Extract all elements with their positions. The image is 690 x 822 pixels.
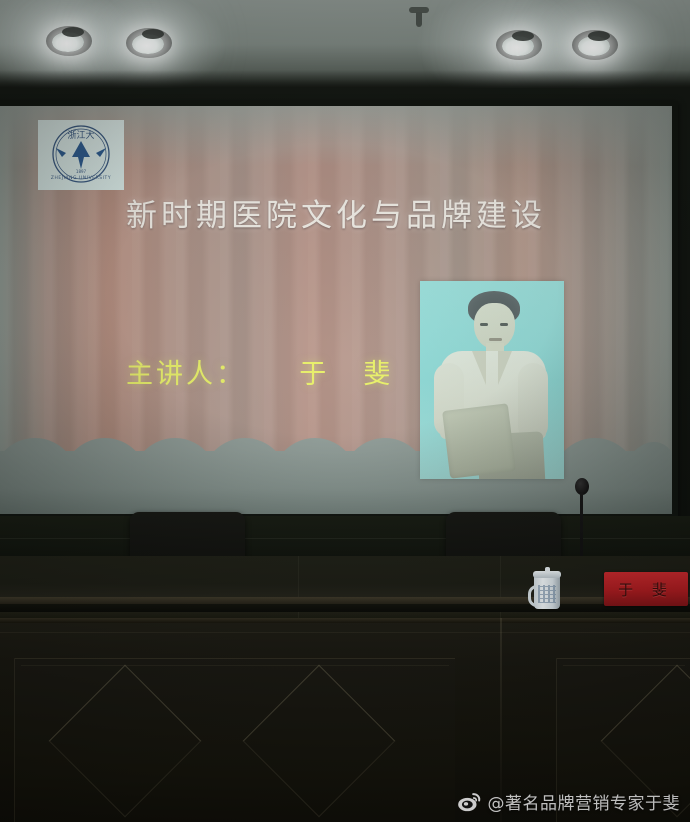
speaker-surname: 于 — [299, 359, 329, 390]
photo-scene: 浙江大 ZHEJIANG UNIVERSITY 1897 新时期医院文化与品牌建… — [0, 0, 690, 822]
svg-text:1897: 1897 — [76, 169, 87, 174]
speaker-label: 主讲人： — [126, 359, 246, 390]
desk-nameplate: 于 斐 — [604, 572, 688, 606]
ceiling-spotlight-3 — [496, 30, 542, 60]
ceiling-spotlight-4 — [572, 30, 618, 60]
projection-screen: 浙江大 ZHEJIANG UNIVERSITY 1897 新时期医院文化与品牌建… — [0, 106, 672, 514]
podium-panel-left — [14, 658, 455, 822]
weibo-handle: @著名品牌营销专家于斐 — [488, 789, 681, 814]
weibo-watermark: @著名品牌营销专家于斐 — [457, 789, 681, 814]
portrait-projection-haze — [420, 281, 564, 479]
ceiling — [0, 0, 690, 92]
speaker-givenname: 斐 — [363, 359, 393, 390]
zhejiang-university-crest-icon: 浙江大 ZHEJIANG UNIVERSITY 1897 — [38, 120, 124, 190]
weibo-icon — [457, 792, 481, 812]
nameplate-text: 于 斐 — [618, 579, 674, 600]
ceiling-sprinkler-icon — [409, 7, 429, 28]
head-table — [0, 556, 690, 622]
slide-lower-area — [0, 451, 672, 514]
svg-text:ZHEJIANG UNIVERSITY: ZHEJIANG UNIVERSITY — [51, 175, 111, 181]
svg-text:浙江大: 浙江大 — [67, 129, 94, 141]
ceiling-spotlight-1 — [46, 26, 92, 56]
ceiling-spotlight-2 — [126, 28, 172, 58]
speaker-portrait — [420, 281, 564, 479]
tea-mug-with-lid — [530, 567, 564, 609]
slide-title: 新时期医院文化与品牌建设 — [126, 190, 586, 235]
slide-speaker-line: 主讲人： 于 斐 — [126, 352, 393, 391]
